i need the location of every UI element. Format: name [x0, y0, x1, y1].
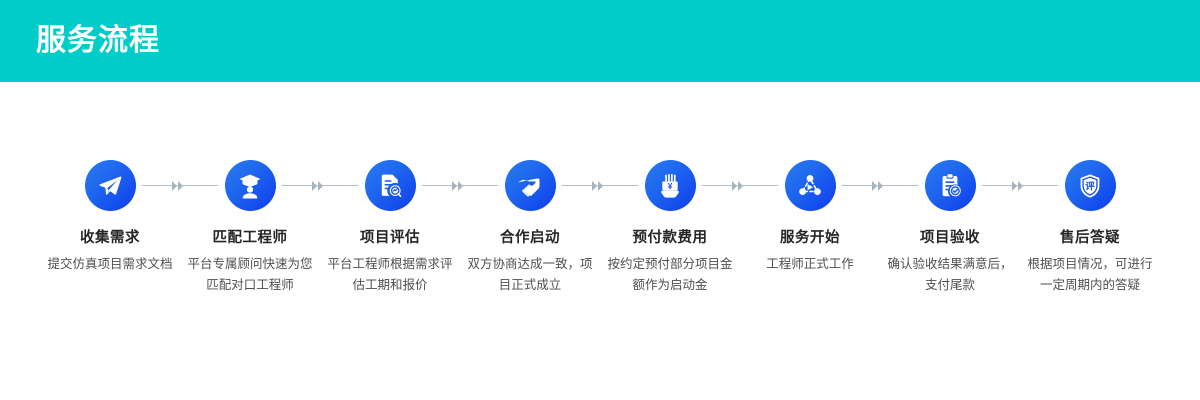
double-chevron-right-icon: [451, 180, 469, 192]
step-title-6: 服务开始: [780, 229, 840, 247]
double-chevron-right-icon: [171, 180, 189, 192]
step-icon-circle-5: ¥: [645, 160, 696, 211]
shield-review-icon: 评: [1076, 172, 1104, 200]
document-search-icon: [376, 172, 404, 200]
step-icon-circle-3: [365, 160, 416, 211]
step-icon-circle-2: [225, 160, 276, 211]
double-chevron-right-icon: [731, 180, 749, 192]
network-collaboration-icon: [796, 172, 824, 200]
step-icon-circle-8: 评: [1065, 160, 1116, 211]
step-icon-circle-6: [785, 160, 836, 211]
step-desc-3: 平台工程师根据需求评估工期和报价: [327, 254, 453, 296]
step-icon-circle-4: [505, 160, 556, 211]
double-chevron-right-icon: [591, 180, 609, 192]
svg-text:评: 评: [1085, 180, 1095, 192]
service-process-page: 服务流程 收集需求 提交仿真项目需求文档: [0, 0, 1200, 400]
step-title-4: 合作启动: [500, 229, 560, 247]
page-title: 服务流程: [36, 21, 160, 61]
process-flow: 收集需求 提交仿真项目需求文档: [0, 160, 1200, 340]
paper-plane-icon: [96, 172, 124, 200]
step-desc-1: 提交仿真项目需求文档: [47, 254, 173, 275]
double-chevron-right-icon: [311, 180, 329, 192]
step-icon-circle-7: [925, 160, 976, 211]
step-desc-5: 按约定预付部分项目金额作为启动金: [607, 254, 733, 296]
double-chevron-right-icon: [1011, 180, 1029, 192]
step-title-7: 项目验收: [920, 229, 980, 247]
step-desc-7: 确认验收结果满意后，支付尾款: [887, 254, 1013, 296]
double-chevron-right-icon: [871, 180, 889, 192]
handshake-icon: [515, 171, 545, 201]
step-title-1: 收集需求: [80, 229, 140, 247]
header-band: 服务流程: [0, 0, 1200, 82]
step-desc-4: 双方协商达成一致，项目正式成立: [467, 254, 593, 296]
clipboard-check-icon: [936, 172, 964, 200]
step-title-3: 项目评估: [360, 229, 420, 247]
step-title-2: 匹配工程师: [213, 229, 288, 247]
step-desc-2: 平台专属顾问快速为您匹配对口工程师: [187, 254, 313, 296]
hand-money-yuan-icon: ¥: [656, 172, 684, 200]
graduate-engineer-icon: [236, 172, 264, 200]
step-desc-8: 根据项目情况，可进行一定周期内的答疑: [1027, 254, 1153, 296]
step-title-8: 售后答疑: [1060, 229, 1120, 247]
flow-step-8[interactable]: 评 售后答疑 根据项目情况，可进行一定周期内的答疑: [1020, 160, 1160, 296]
step-desc-6: 工程师正式工作: [747, 254, 873, 275]
step-icon-circle-1: [85, 160, 136, 211]
svg-text:¥: ¥: [668, 182, 673, 191]
step-title-5: 预付款费用: [633, 229, 708, 247]
